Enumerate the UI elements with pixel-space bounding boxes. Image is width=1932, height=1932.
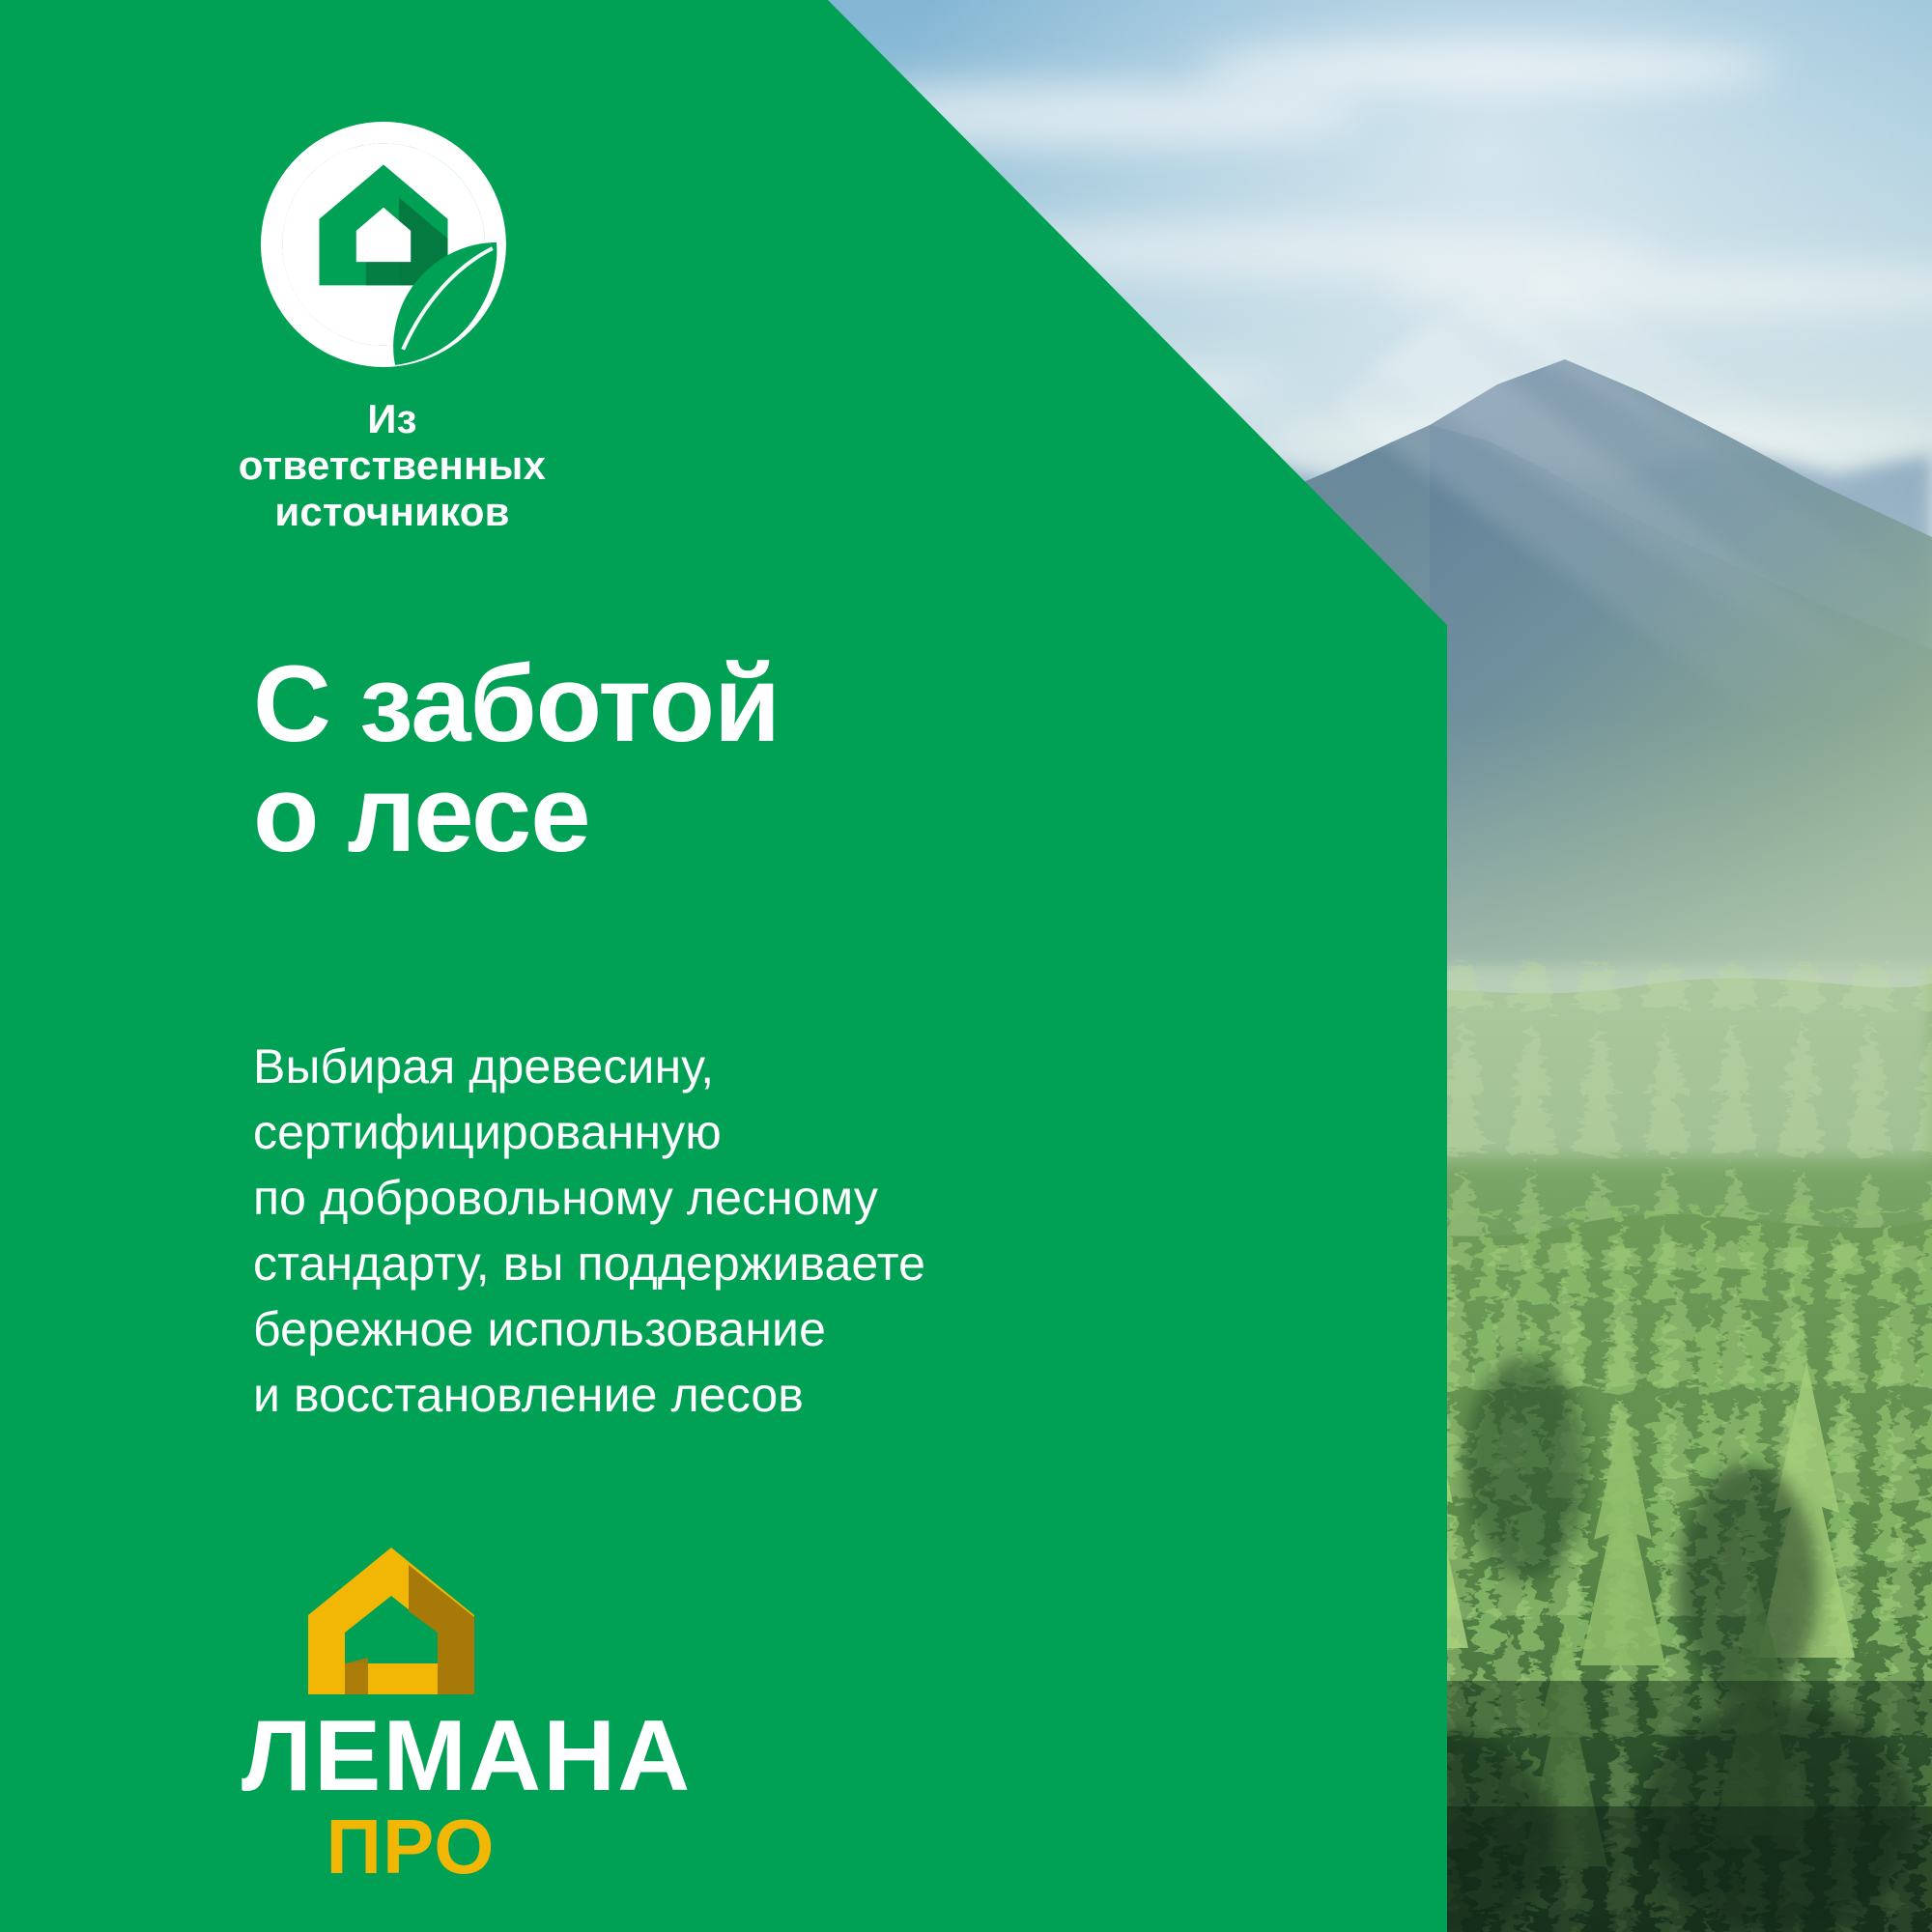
page-title: С заботой о лесе <box>253 649 780 869</box>
brand-lockup: ЛЕМАНА ПРО <box>241 1544 696 1886</box>
brand-subtitle: ПРО <box>241 1808 580 1886</box>
brand-name: ЛЕМАНА <box>241 1710 580 1804</box>
house-leaf-circle-emblem <box>257 118 510 371</box>
lemana-house-logo-icon <box>295 1544 488 1698</box>
promo-poster: Из ответственных источников С заботой о … <box>0 0 1932 1932</box>
certification-badge: Из ответственных источников <box>249 118 703 535</box>
body-text: Выбирая древесину, сертифицированную по … <box>253 1034 925 1428</box>
poster-content: Из ответственных источников С заботой о … <box>0 0 1447 1932</box>
certification-badge-caption: Из ответственных источников <box>228 396 556 535</box>
